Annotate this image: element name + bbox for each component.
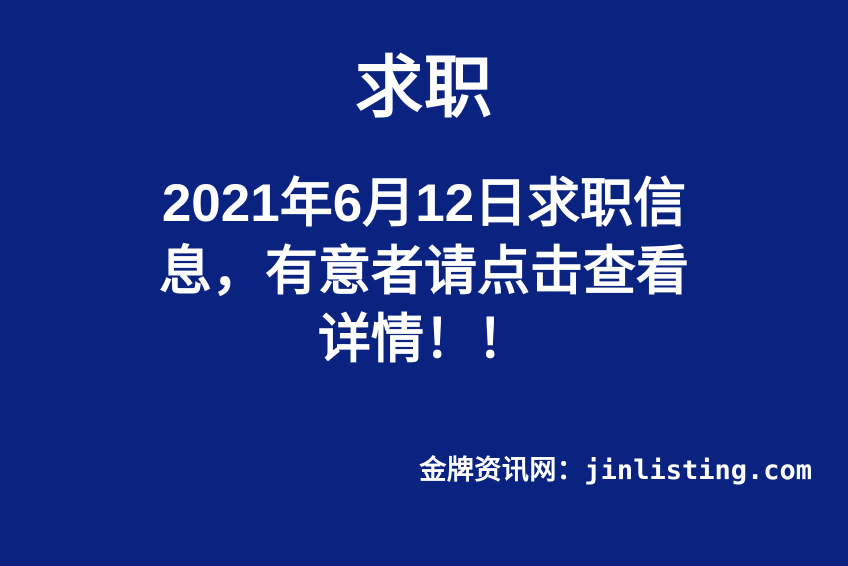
footer-site-label: 金牌资讯网： [419,455,584,485]
footer-site-url: jinlisting.com [584,455,812,486]
footer-watermark: 金牌资讯网：jinlisting.com [0,448,848,487]
body-text-block: 2021年6月12日求职信 息，有意者请点击查看 详情！！ [0,170,848,374]
body-line-2: 息，有意者请点击查看 [0,238,848,306]
page-title: 求职 [0,46,848,130]
poster-canvas: 求职 2021年6月12日求职信 息，有意者请点击查看 详情！！ 金牌资讯网：j… [0,0,848,566]
page-title-text: 求职 [355,46,493,130]
body-line-1: 2021年6月12日求职信 [0,170,848,238]
body-line-3: 详情！！ [0,306,848,374]
